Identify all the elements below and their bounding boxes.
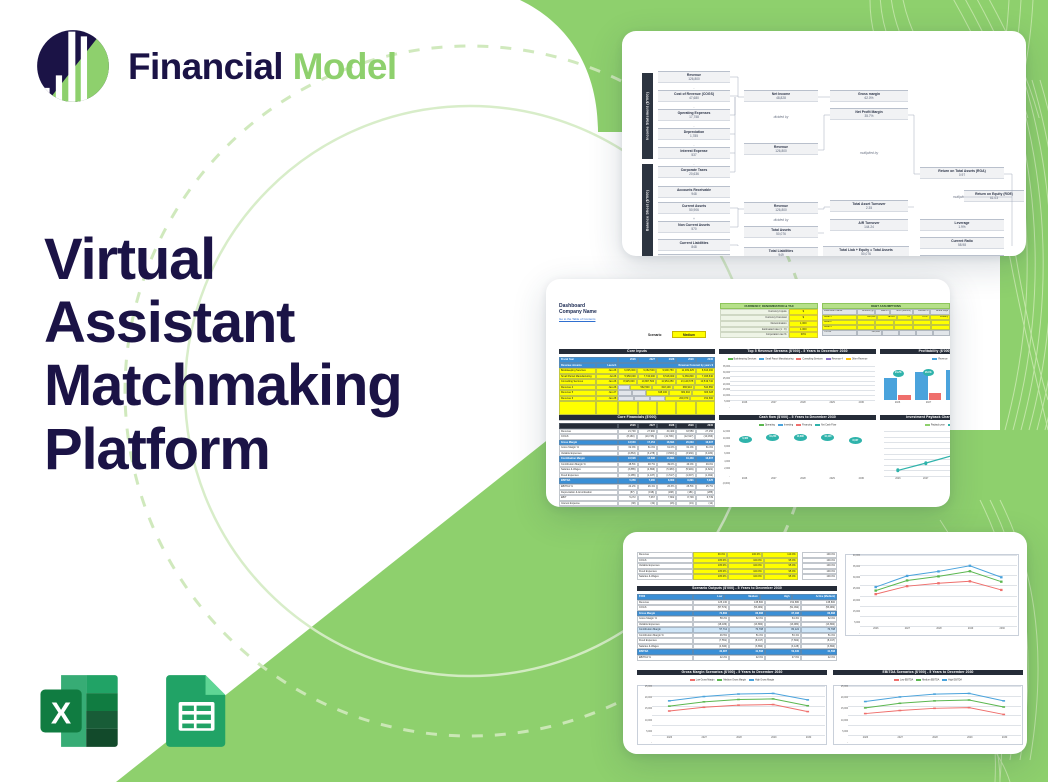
legend-swatch	[728, 358, 733, 360]
dupont-node-roe: Return on Equity (ROE)61.03	[964, 190, 1024, 202]
band-income-statement: Income Statement ($'000)	[642, 73, 653, 159]
dupont-node: Return on Total Assets (ROA)0.97	[920, 167, 1004, 179]
y-tick: 35,000	[846, 566, 860, 568]
legend-swatch	[925, 424, 930, 426]
data-point	[969, 580, 972, 582]
data-point	[968, 693, 971, 695]
dupont-node: Operating Expenses17,758	[658, 109, 730, 121]
brand-name-secondary: Model	[293, 46, 397, 87]
data-point	[806, 711, 809, 713]
dupont-node: Depreciation1,785	[658, 128, 730, 140]
dupont-operator: divided by	[744, 115, 818, 119]
headline-line-3: Matchmaking	[44, 354, 474, 417]
y-tick: 10,000	[719, 438, 730, 440]
y-tick: 15,000	[719, 389, 730, 391]
table-cell: 6,952	[696, 506, 715, 507]
legend-item: Financing	[796, 424, 812, 427]
legend-item: Revenue	[932, 358, 947, 361]
dupont-node: A/R Turnover144.24	[830, 219, 908, 231]
y-tick: 30,000	[719, 372, 730, 374]
dupont-node: Net Profit Margin35.7%	[830, 108, 908, 120]
ebitda-title: EBITDA Scenarios ($'000) - 5 Years to De…	[833, 670, 1023, 675]
y-tick: 5,000	[846, 622, 860, 624]
y-tick: 25,000	[846, 588, 860, 590]
bar	[946, 370, 950, 400]
data-point	[933, 693, 936, 695]
x-tick: 2030	[1002, 736, 1007, 744]
data-point	[968, 707, 971, 709]
dupont-node: Revenue126,800	[658, 71, 730, 83]
revenue-streams-title: Top 5 Revenue Streams ($'000) - 5 Years …	[719, 349, 876, 354]
x-tick: 2028	[800, 401, 805, 409]
data-point	[968, 699, 971, 701]
table-row: Salaries & Wages 105.0% 100.0% 95.0% 100…	[637, 574, 837, 580]
legend-item: Revenue 4	[826, 358, 843, 361]
legend-swatch	[942, 679, 947, 681]
data-point	[668, 710, 671, 712]
line-series	[876, 571, 1002, 590]
data-label-bubble: 10,800	[794, 434, 807, 441]
dupont-node: Total Liab + Equity = Total Assets50,076	[823, 246, 909, 256]
table-cell: 5,179	[618, 506, 637, 507]
x-tick: 2027	[771, 477, 776, 485]
table-row: Net Profit Before Tax5,1797,0357,7768,69…	[559, 506, 715, 507]
table-cell: 47.0%	[765, 655, 801, 661]
x-tick: 2030	[859, 477, 864, 485]
bar	[915, 372, 928, 400]
data-label-bubble: 6,460	[739, 436, 752, 443]
dupont-node: Financial Leverage multiplier60.22	[920, 255, 1004, 256]
bar	[898, 395, 911, 400]
y-tick: 6,000	[719, 453, 730, 455]
dupont-node: Total Assets50,076	[744, 226, 818, 238]
y-tick: 15,000	[846, 611, 860, 613]
dupont-node: Corporate Taxes20,636	[658, 166, 730, 178]
profitability-title: Profitability ($'000) - 5 Years to Decem…	[880, 349, 950, 354]
data-point	[1000, 581, 1003, 583]
dupont-operator: multiplied by	[830, 151, 908, 155]
dupont-tree: Income Statement ($'000) Balance Sheet (…	[634, 47, 1014, 246]
y-tick: 20,000	[638, 697, 652, 699]
legend-item: Net Cash Flow	[815, 424, 836, 427]
y-tick: 5,000	[638, 731, 652, 733]
y-tick: 2,000	[719, 468, 730, 470]
legend-swatch	[778, 424, 783, 426]
legend-item: Medium Gross Margin	[717, 679, 746, 682]
scenario-inputs-table: Revenue 90.0% 100.0% 110.0% 100.0% COGS …	[637, 552, 837, 580]
data-point	[906, 585, 909, 587]
data-point	[772, 698, 775, 700]
legend-swatch	[749, 679, 754, 681]
x-tick: 2027	[923, 477, 928, 485]
dupont-node: Net Income48,828	[744, 90, 818, 102]
profitability-chart[interactable]: RevenueEBITDAEBITDA % 24.2%26.1%26.3%26.…	[880, 357, 950, 409]
x-tick: 2028	[932, 736, 937, 744]
data-label-bubble: 10,250	[766, 434, 779, 441]
data-point	[864, 713, 867, 715]
y-tick: 15,000	[638, 708, 652, 710]
data-label-bubble: 8,037	[849, 437, 862, 444]
x-tick: 2029	[967, 736, 972, 744]
dupont-node: Current Assets50,906	[658, 202, 730, 214]
data-point	[937, 582, 940, 584]
y-tick: 20,000	[719, 384, 730, 386]
table-cell: 8,690	[676, 506, 695, 507]
data-point	[899, 710, 902, 712]
page-title: Virtual Assistant Matchmaking Platform	[44, 228, 474, 481]
line-series	[884, 431, 950, 476]
table-cell: 42.0%	[729, 655, 765, 661]
legend-item: Other Revenue	[846, 358, 868, 361]
legend-item: Small Parcel Manufacturing	[759, 358, 793, 361]
data-point	[937, 570, 940, 572]
bar	[929, 393, 942, 400]
y-tick: 30,000	[846, 577, 860, 579]
table-cell: EBITDA %	[637, 655, 693, 661]
legend-swatch	[796, 358, 801, 360]
legend-swatch	[948, 424, 950, 426]
currency-block: CURRENCY, DENOMINATION & TAX Currency In…	[720, 303, 818, 338]
y-tick: 5,000	[719, 401, 730, 403]
table-cell: 7,776	[657, 506, 676, 507]
table-row	[559, 401, 715, 415]
legend-item: Payback year	[925, 424, 945, 427]
y-tick: 20,000	[834, 697, 848, 699]
dupont-node: Total Asset Turnover2.35	[830, 200, 908, 212]
x-tick: 2029	[829, 401, 834, 409]
core-financials-header: Core Financials ($'000)	[559, 415, 715, 420]
legend-item: Investing	[778, 424, 793, 427]
debt-assumptions-block: DEBT ASSUMPTIONS Loan/Grant Name Amount …	[822, 303, 950, 336]
data-point	[1000, 576, 1003, 578]
legend-swatch	[815, 424, 820, 426]
y-tick: 12,000	[719, 431, 730, 433]
legend-item: Operating	[759, 424, 775, 427]
data-label-bubble: 24.2%	[893, 370, 904, 377]
y-tick: 20,000	[846, 600, 860, 602]
data-point	[772, 704, 775, 706]
data-point	[1002, 714, 1005, 716]
google-sheets-icon	[150, 668, 236, 754]
data-point	[737, 699, 740, 701]
poster-canvas: Financial Model Virtual Assistant Matchm…	[0, 0, 1048, 782]
x-tick: 2026	[895, 477, 900, 485]
legend-item: Bookkeeping Services	[728, 358, 757, 361]
table-cell: 7,035	[638, 506, 657, 507]
microsoft-excel-icon: X	[36, 668, 122, 754]
y-tick: 35,000	[719, 366, 730, 368]
data-point	[937, 575, 940, 577]
legend-swatch	[826, 358, 831, 360]
line-series-group	[860, 555, 1017, 626]
data-point	[899, 702, 902, 704]
legend-swatch	[846, 358, 851, 360]
x-tick: 2027	[702, 736, 707, 744]
x-tick: 2027	[905, 627, 910, 635]
data-point	[806, 705, 809, 707]
headline-line-2: Assistant	[44, 291, 474, 354]
data-point	[933, 700, 936, 702]
legend-item: Low Gross Margin	[690, 679, 715, 682]
x-tick: 2030	[1000, 627, 1005, 635]
supported-app-icons: X	[36, 668, 236, 754]
legend-item: Medium EBITDA	[916, 679, 939, 682]
legend-swatch	[894, 679, 899, 681]
cash-flow-title: Cash flow ($'000) - 5 Years to December …	[719, 415, 876, 420]
table-cell: Net Profit Before Tax	[559, 506, 618, 507]
dupont-node: Interest Expense537	[658, 147, 730, 159]
y-tick: 25,000	[638, 686, 652, 688]
table-cell: 42.0%	[801, 655, 837, 661]
data-point	[864, 707, 867, 709]
dashboard-title: Dashboard Company Name	[559, 303, 597, 316]
investment-payback-chart[interactable]: Payback yearCumulative Cash Generated (S…	[880, 423, 950, 485]
data-point	[668, 705, 671, 707]
y-tick: 4,000	[719, 461, 730, 463]
x-tick: 2026	[863, 736, 868, 744]
headline-line-1: Virtual	[44, 228, 474, 291]
y-tick: 10,000	[719, 395, 730, 397]
data-point	[703, 701, 706, 703]
y-tick: -	[846, 633, 860, 635]
dupont-node: Current Liabilities848	[658, 239, 730, 251]
scenario-selector[interactable]: Medium	[672, 331, 706, 338]
core-inputs-table: Fiscal Year 2026 2027 2028 2029 2030 Rev…	[559, 357, 715, 421]
y-tick: 40,000	[846, 555, 860, 557]
dupont-node: Leverage1.9%	[920, 219, 1004, 231]
scenario-outputs-table: $'000LowMediumHighActive (Medium)Revenue…	[637, 594, 837, 661]
line-series-group	[848, 686, 1021, 735]
data-point	[668, 700, 671, 702]
scenario-label: Scenario	[648, 333, 661, 337]
y-tick: -	[834, 742, 848, 744]
dupont-node: Gross margin62.0%	[830, 90, 908, 102]
legend-swatch	[717, 679, 722, 681]
legend-swatch	[759, 358, 764, 360]
legend-swatch	[759, 424, 764, 426]
scenario-analysis-card[interactable]: Revenue 90.0% 100.0% 110.0% 100.0% COGS …	[623, 532, 1027, 754]
data-point	[969, 570, 972, 572]
dupont-node: Cost of Revenue (COGS)47,680	[658, 90, 730, 102]
dupont-node: Revenue126,800	[744, 143, 818, 155]
table-row: EBITDA %42.2%42.0%47.0%42.0%	[637, 655, 837, 661]
line-series-group	[652, 686, 825, 735]
financial-dashboard: Dashboard Company Name Go to the Table o…	[556, 291, 940, 497]
revenue-streams-chart[interactable]: Bookkeeping ServicesSmall Parcel Manufac…	[719, 357, 876, 409]
headline-line-4: Platform	[44, 418, 474, 481]
x-tick: 2027	[771, 401, 776, 409]
x-tick: 2029	[968, 627, 973, 635]
dupont-node: Current Ratio58.98	[920, 237, 1004, 249]
y-tick: 10,000	[834, 720, 848, 722]
data-point	[906, 575, 909, 577]
dupont-node: Accounts Receivable948	[658, 186, 730, 198]
x-tick: 2026	[895, 401, 900, 409]
x-tick: 2026	[742, 477, 747, 485]
data-point	[737, 693, 740, 695]
table-cell: 42.2%	[693, 655, 729, 661]
cash-flow-chart[interactable]: OperatingInvestingFinancingNet Cash Flow…	[719, 423, 876, 485]
scenario-analysis: Revenue 90.0% 100.0% 110.0% 100.0% COGS …	[633, 542, 1017, 746]
x-tick: 2028	[936, 627, 941, 635]
core-financials-table: 20262027202820292030Revenue21,70027,9003…	[559, 423, 715, 507]
table-of-contents-link[interactable]: Go to the Table of Contents	[559, 317, 595, 321]
revenue-scenarios-chart[interactable]: 40,00035,00030,00025,00020,00015,0005,00…	[845, 554, 1019, 636]
core-inputs-header: Core Inputs	[559, 349, 715, 354]
legend-swatch	[916, 679, 921, 681]
data-point	[703, 696, 706, 698]
dupont-operator: divided by	[744, 218, 818, 222]
investment-payback-title: Investment Payback Chart ($'000) - 5 Yea…	[880, 415, 950, 420]
scenario-outputs-header: Scenario Outputs ($'000) - 5 Years to De…	[637, 586, 837, 591]
data-point	[1002, 706, 1005, 708]
ebitda-scenarios-chart[interactable]: 25,00020,00015,00010,0005,000- 202620272…	[833, 685, 1023, 745]
x-tick: 2026	[667, 736, 672, 744]
bar	[884, 378, 897, 400]
y-tick: 25,000	[719, 378, 730, 380]
y-tick: 15,000	[834, 708, 848, 710]
dupont-analysis-card[interactable]: Income Statement ($'000) Balance Sheet (…	[622, 31, 1026, 256]
x-tick: 2027	[898, 736, 903, 744]
x-tick: 2026	[742, 401, 747, 409]
y-tick: 5,000	[834, 731, 848, 733]
x-tick: 2028	[736, 736, 741, 744]
data-point	[737, 704, 740, 706]
data-point	[864, 701, 867, 703]
band-balance-sheet: Balance Sheet ($'000)	[642, 164, 653, 256]
legend-item: High EBITDA	[942, 679, 962, 682]
brand-name-primary: Financial	[128, 46, 283, 87]
data-point	[703, 707, 706, 709]
data-point	[874, 593, 877, 595]
data-point	[1000, 589, 1003, 591]
x-tick: 2030	[806, 736, 811, 744]
dupont-node: Non Current Assets570	[658, 221, 730, 233]
data-point	[806, 699, 809, 701]
data-point	[874, 586, 877, 588]
legend-item: Cumulative Cash Generated (Source)	[948, 424, 950, 427]
x-tick: 2028	[800, 477, 805, 485]
legend-swatch	[796, 424, 801, 426]
data-point	[933, 708, 936, 710]
financial-model-logo	[34, 27, 112, 105]
gross-margin-title: Gross Margin Scenarios ($'000) - 5 Years…	[637, 670, 827, 675]
data-point	[906, 579, 909, 581]
svg-text:X: X	[51, 697, 72, 731]
data-point	[1002, 700, 1005, 702]
x-tick: 2029	[771, 736, 776, 744]
y-tick: 25,000	[834, 686, 848, 688]
data-point	[969, 565, 972, 567]
y-tick: -	[719, 476, 730, 478]
y-tick: 10,000	[638, 720, 652, 722]
gross-margin-scenarios-chart[interactable]: 25,00020,00015,00010,0005,000- 202620272…	[637, 685, 827, 745]
dupont-node: Total Liabilities949	[744, 247, 818, 256]
y-tick: (2,000)	[719, 483, 730, 485]
legend-item: High Gross Margin	[749, 679, 774, 682]
x-tick: 2029	[829, 477, 834, 485]
y-tick: 8,000	[719, 446, 730, 448]
data-point	[874, 589, 877, 591]
x-tick: 2027	[926, 401, 931, 409]
x-tick: 2026	[873, 627, 878, 635]
data-point	[899, 696, 902, 698]
dupont-node: Non Current Liabilities101	[658, 254, 730, 256]
dashboard-card[interactable]: Dashboard Company Name Go to the Table o…	[546, 279, 950, 507]
y-tick: -	[638, 742, 652, 744]
legend-item: Low EBITDA	[894, 679, 913, 682]
bar-group[interactable]	[946, 364, 950, 400]
data-point	[772, 693, 775, 695]
legend-swatch	[932, 358, 937, 360]
legend-item: Consulting Services	[796, 358, 822, 361]
dupont-node: Revenue126,800	[744, 202, 818, 214]
y-tick: -	[719, 407, 730, 409]
x-tick: 2030	[859, 401, 864, 409]
brand-lockup: Financial Model	[34, 27, 397, 105]
legend-swatch	[690, 679, 695, 681]
